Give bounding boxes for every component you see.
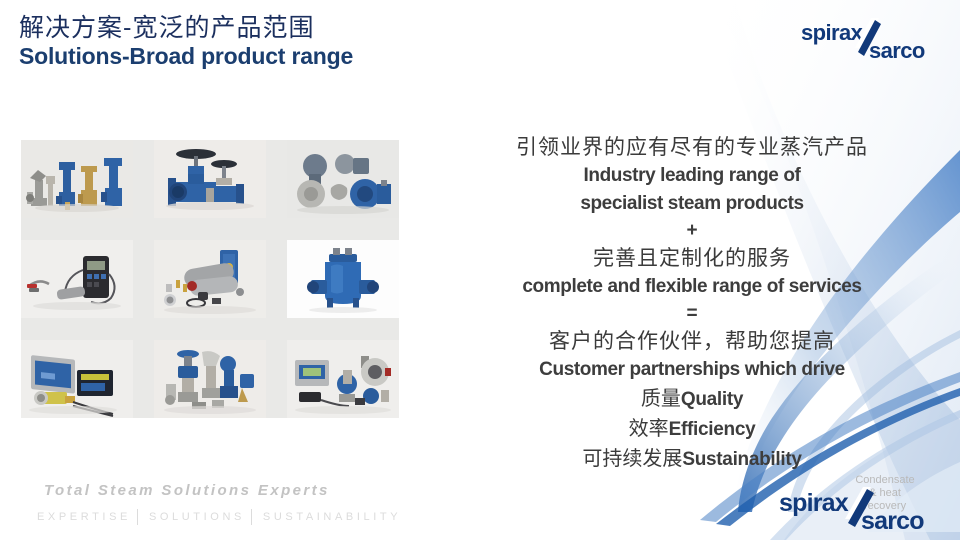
footer-divider (251, 509, 252, 525)
copy-line-7: Customer partnerships which drive (462, 356, 922, 384)
pillar-sustainability-en: Sustainability (682, 449, 801, 470)
title-english: Solutions-Broad product range (19, 43, 353, 70)
logo-slash-icon (858, 20, 881, 56)
product-image-steam-traps (287, 140, 399, 218)
condensate-line-3: recovery (830, 500, 940, 513)
footer-divider (137, 509, 138, 525)
condensate-line-2: & heat (830, 487, 940, 500)
copy-line-4: 完善且定制化的服务 (462, 243, 922, 273)
logo-word-spirax: spirax (801, 20, 864, 45)
product-image-heat-exchanger-package (154, 240, 266, 318)
copy-operator-plus: + (462, 218, 922, 243)
slide-title: 解决方案-宽泛的产品范围 Solutions-Broad product ran… (19, 13, 353, 70)
footer-pillar-solutions: SOLUTIONS (149, 511, 245, 523)
footer-pillar-sustainability: SUSTAINABILITY (263, 511, 401, 523)
logo-word-sarco: sarco (869, 38, 925, 63)
copy-pillar-sustainability: 可持续发展Sustainability (462, 444, 922, 474)
copy-line-3: specialist steam products (462, 190, 922, 218)
copy-line-1: 引领业界的应有尽有的专业蒸汽产品 (462, 132, 922, 162)
pillar-efficiency-cn: 效率 (629, 416, 669, 440)
product-image-pressure-valves-flanged (154, 140, 266, 218)
copy-pillar-quality: 质量Quality (462, 384, 922, 414)
copy-line-6: 客户的合作伙伴，帮助您提高 (462, 326, 922, 356)
product-image-control-valve-range (154, 340, 266, 418)
copy-line-5: complete and flexible range of services (462, 273, 922, 301)
pillar-quality-cn: 质量 (641, 386, 681, 410)
pillar-sustainability-cn: 可持续发展 (582, 446, 682, 470)
pillar-efficiency-en: Efficiency (669, 419, 756, 440)
condensate-recovery-caption: Condensate & heat recovery (830, 474, 940, 513)
product-image-safety-relief-valves (21, 140, 133, 218)
copy-line-2: Industry leading range of (462, 162, 922, 190)
copy-operator-equals: = (462, 301, 922, 326)
condensate-line-1: Condensate (830, 474, 940, 487)
spirax-sarco-logo: spirax sarco (795, 18, 945, 64)
product-image-handheld-test-meter (21, 240, 133, 318)
copy-pillar-efficiency: 效率Efficiency (462, 414, 922, 444)
presentation-slide: 解决方案-宽泛的产品范围 Solutions-Broad product ran… (0, 0, 960, 540)
product-image-control-monitoring-units (21, 340, 133, 418)
product-image-condensate-recovery-unit (287, 240, 399, 318)
footer-pillars: EXPERTISE SOLUTIONS SUSTAINABILITY (37, 509, 401, 525)
product-image-grid (21, 140, 399, 418)
title-chinese: 解决方案-宽泛的产品范围 (19, 13, 353, 43)
footer-pillar-expertise: EXPERTISE (37, 511, 131, 523)
pillar-quality-en: Quality (681, 389, 743, 410)
product-image-flow-metering-products (287, 340, 399, 418)
value-proposition-text: 引领业界的应有尽有的专业蒸汽产品 Industry leading range … (462, 132, 922, 474)
footer-tagline: Total Steam Solutions Experts (44, 482, 330, 499)
